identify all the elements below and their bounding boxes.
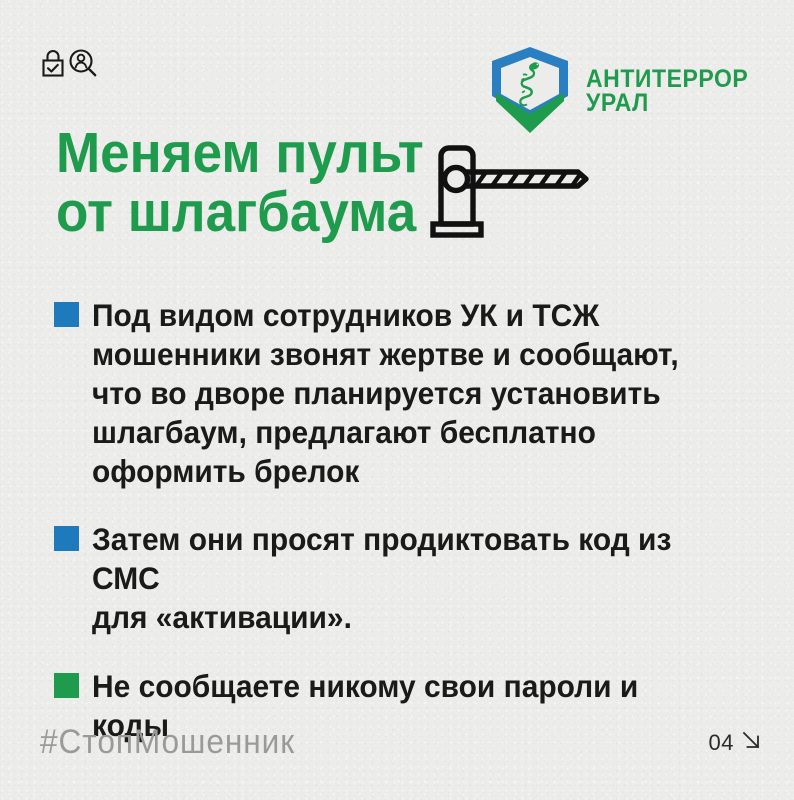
footer: #СтопМошенник 04 [40,723,762,762]
bullet-marker-blue [54,526,79,551]
bullet-marker-blue [54,302,79,327]
bullet-list: Под видом сотрудников УК и ТСЖ мошенники… [54,296,754,745]
padlock-check-icon [40,48,66,78]
barrier-gate-icon [428,132,596,244]
page-number: 04 [709,730,734,756]
logo-wordmark: АНТИТЕРРОР УРАЛ [586,65,762,115]
title-block: Меняем пульт от шлагбаума [56,124,746,241]
campaign-hashtag: #СтопМошенник [40,723,295,762]
bullet-text-1: Под видом сотрудников УК и ТСЖ мошенники… [92,296,679,490]
brand-logo: АНТИТЕРРОР УРАЛ [486,44,762,136]
bullet-item-1: Под видом сотрудников УК и ТСЖ мошенники… [54,296,754,490]
bullet-item-2: Затем они просят продиктовать код из СМС… [54,520,754,637]
person-search-icon [68,48,98,80]
security-icons-group [40,48,98,80]
page-title: Меняем пульт от шлагбаума [56,124,424,241]
logo-line-2: УРАЛ [586,91,748,115]
arrow-down-right-icon [741,730,762,756]
logo-line-1: АНТИТЕРРОР [586,67,748,91]
bullet-text-2: Затем они просят продиктовать код из СМС… [92,520,721,637]
bullet-marker-green [54,673,79,698]
shield-lizard-logo [486,44,574,136]
page-indicator: 04 [709,730,762,756]
